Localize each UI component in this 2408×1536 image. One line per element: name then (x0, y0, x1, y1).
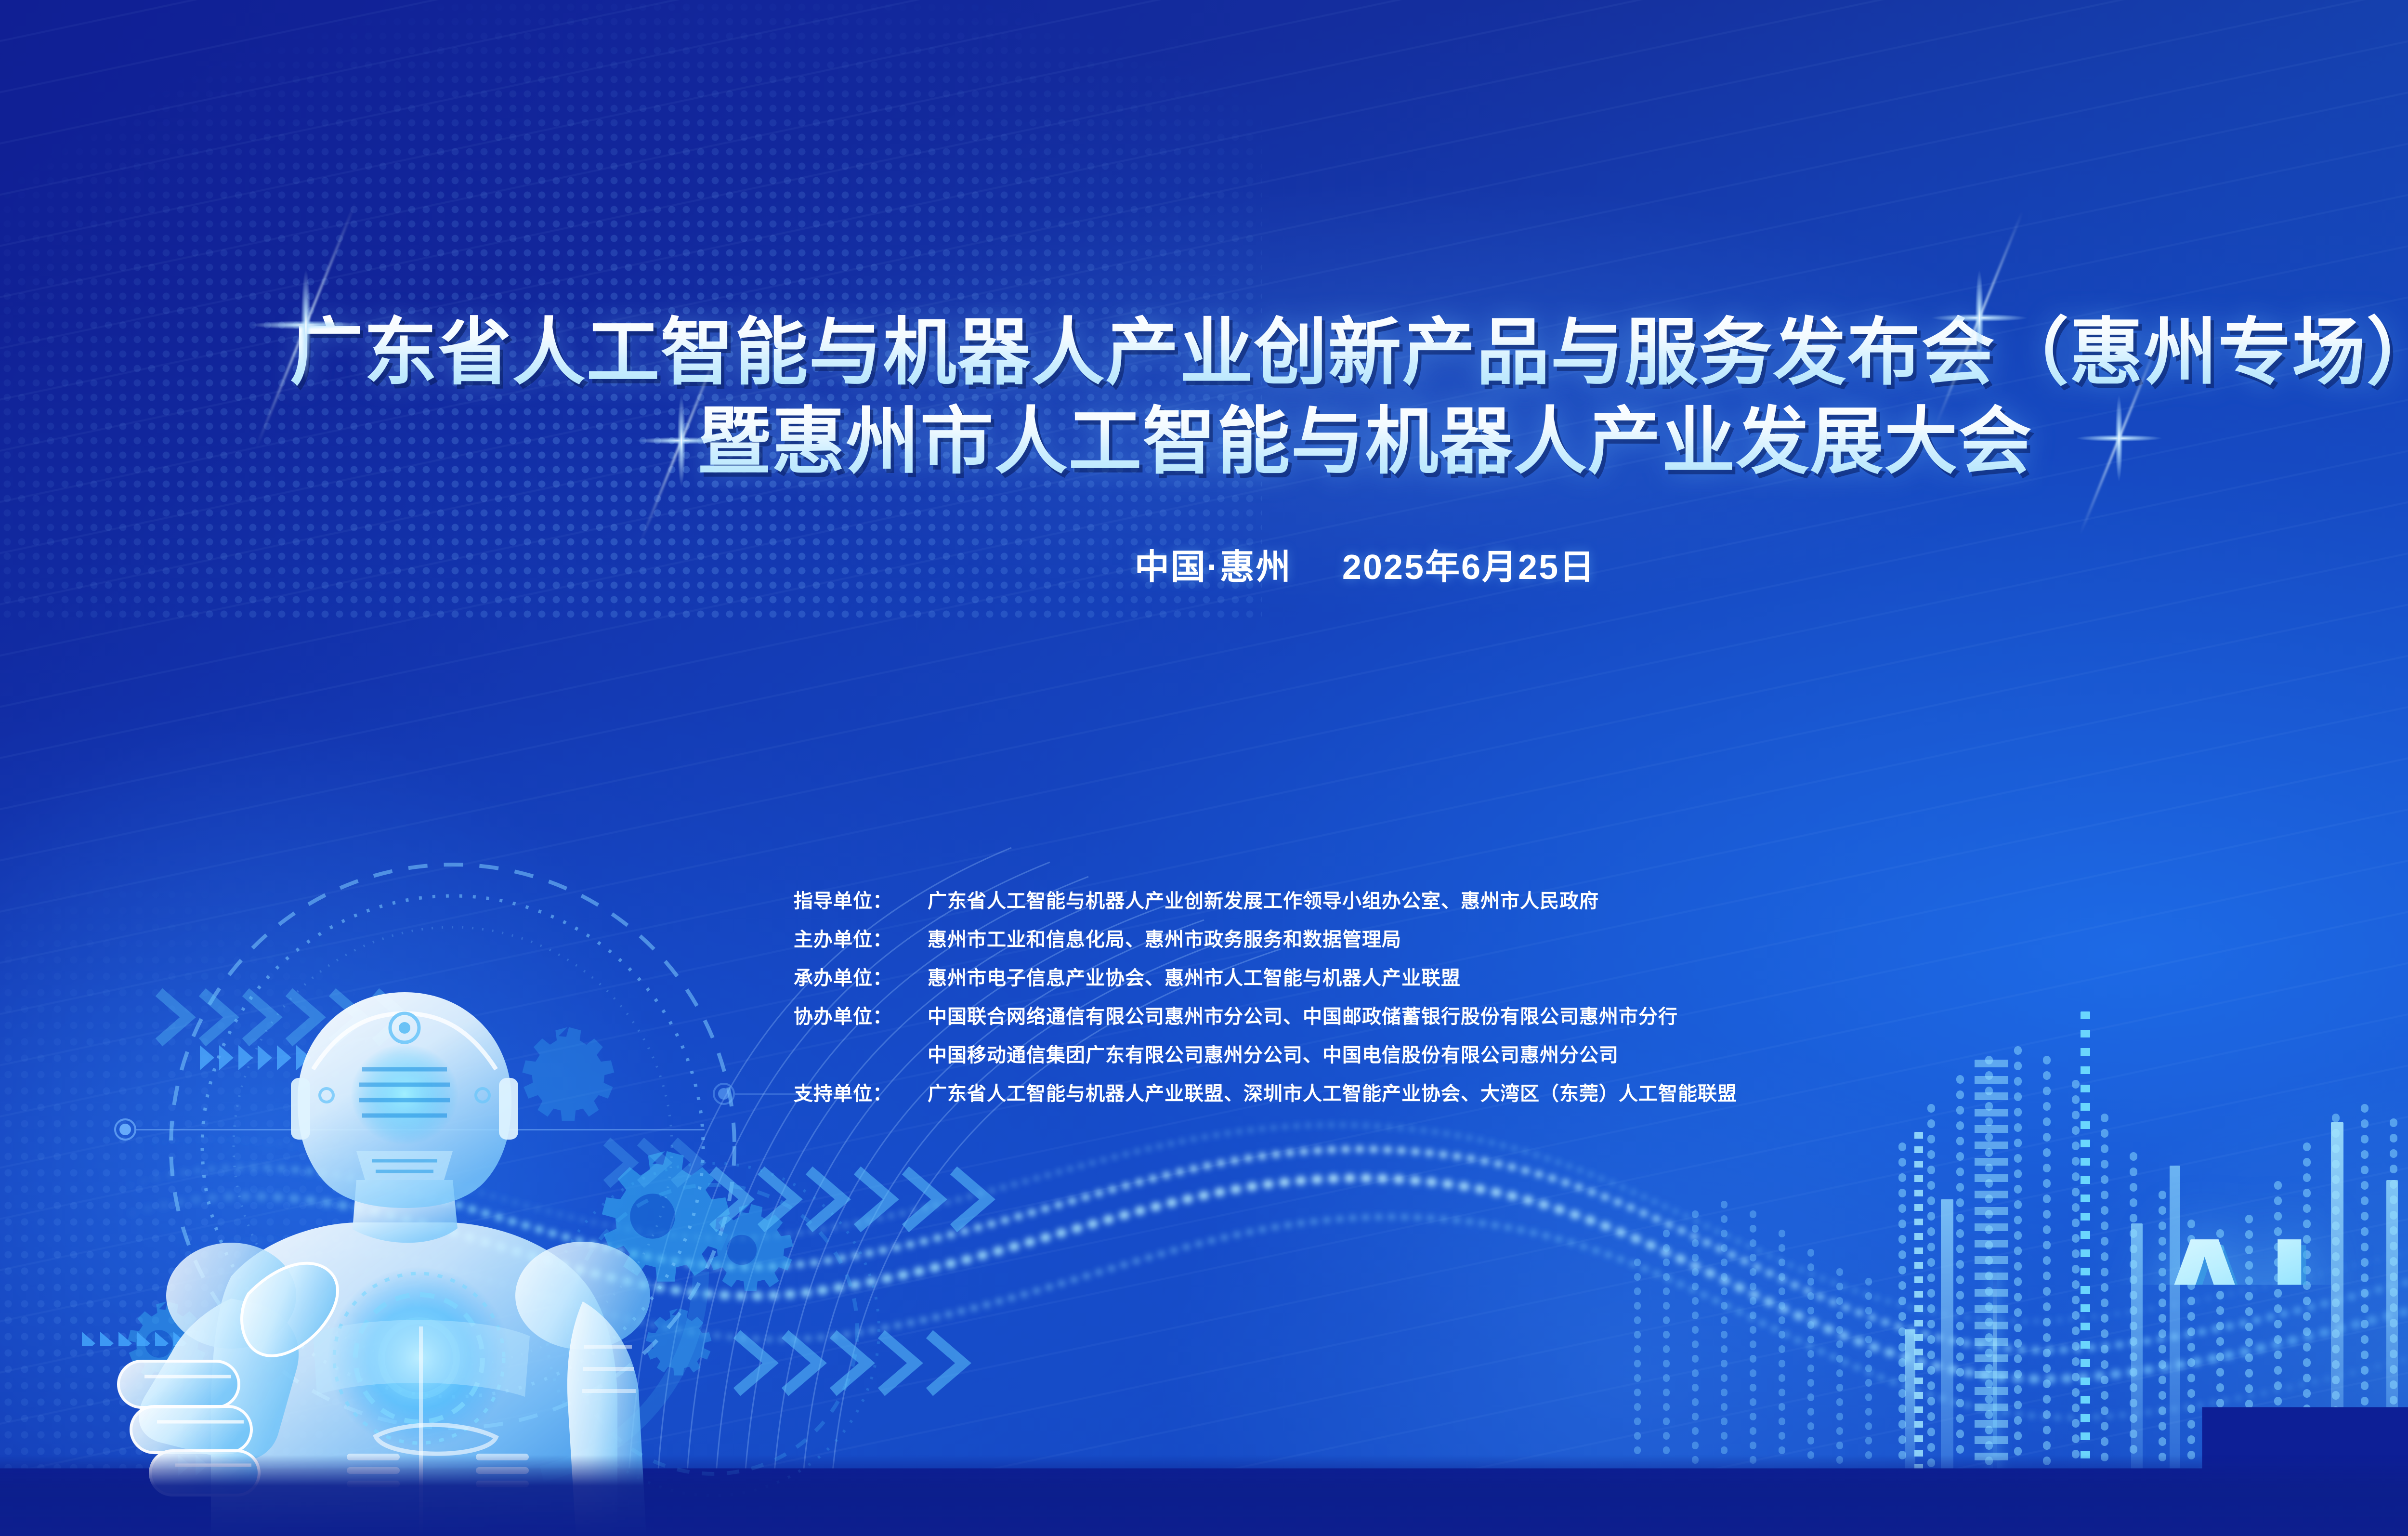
equalizer-bar-solid (1905, 1329, 1915, 1474)
poster-canvas: 广东省人工智能与机器人产业创新产品与服务发布会（惠州专场） 暨惠州市人工智能与机… (0, 0, 2408, 1536)
ai-logo: AI (2146, 1214, 2315, 1378)
equalizer-bar (1975, 1060, 2008, 1474)
humanoid-robot-illustration (87, 910, 679, 1536)
organizer-label: 主办单位： (794, 924, 928, 952)
subtitle-location: 中国·惠州 (1135, 548, 1292, 587)
vertical-glow-line (1993, 1272, 1997, 1474)
organizer-value: 广东省人工智能与机器人产业联盟、深圳市人工智能产业协会、大湾区（东莞）人工智能联… (928, 1078, 1737, 1106)
equalizer-bar-solid (1941, 1199, 1953, 1474)
organizer-value: 惠州市电子信息产业协会、惠州市人工智能与机器人产业联盟 (928, 962, 1461, 990)
organizer-row-continuation: 协办单位： 中国移动通信集团广东有限公司惠州分公司、中国电信股份有限公司惠州分公… (794, 1039, 2408, 1067)
organizer-row: 主办单位： 惠州市工业和信息化局、惠州市政务服务和数据管理局 (794, 924, 2408, 952)
organizer-row: 指导单位： 广东省人工智能与机器人产业创新发展工作领导小组办公室、惠州市人民政府 (794, 885, 2408, 913)
organizer-label: 协办单位： (794, 1001, 928, 1029)
title-block: 广东省人工智能与机器人产业创新产品与服务发布会（惠州专场） 暨惠州市人工智能与机… (0, 308, 2408, 487)
organizer-label: 指导单位： (794, 885, 928, 913)
organizer-value: 广东省人工智能与机器人产业创新发展工作领导小组办公室、惠州市人民政府 (928, 885, 1599, 913)
organizer-row: 支持单位： 广东省人工智能与机器人产业联盟、深圳市人工智能产业协会、大湾区（东莞… (794, 1078, 2408, 1106)
organizer-value: 中国移动通信集团广东有限公司惠州分公司、中国电信股份有限公司惠州分公司 (928, 1039, 1619, 1067)
equalizer-bar-solid (2131, 1223, 2143, 1474)
organizer-value: 惠州市工业和信息化局、惠州市政务服务和数据管理局 (928, 924, 1401, 952)
organizer-value: 中国联合网络通信有限公司惠州市分公司、中国邮政储蓄银行股份有限公司惠州市分行 (928, 1001, 1678, 1029)
node-ring-icon (713, 1083, 735, 1105)
title-line-1: 广东省人工智能与机器人产业创新产品与服务发布会（惠州专场） (0, 308, 2408, 397)
title-line-2: 暨惠州市人工智能与机器人产业发展大会 (0, 397, 2408, 486)
equalizer-bar-solid (2386, 1180, 2398, 1474)
equalizer-bar (1914, 1132, 1923, 1469)
equalizer-bar-solid (2331, 1122, 2343, 1474)
organizer-list: 指导单位： 广东省人工智能与机器人产业创新发展工作领导小组办公室、惠州市人民政府… (794, 885, 2408, 1116)
organizer-label: 承办单位： (794, 962, 928, 990)
subtitle-line: 中国·惠州 2025年6月25日 (0, 538, 2408, 589)
subtitle-date: 2025年6月25日 (1342, 548, 1596, 587)
bottom-gradient-band (0, 1455, 2408, 1536)
organizer-label: 支持单位： (794, 1078, 928, 1106)
organizer-row: 承办单位： 惠州市电子信息产业协会、惠州市人工智能与机器人产业联盟 (794, 962, 2408, 990)
organizer-row: 协办单位： 中国联合网络通信有限公司惠州市分公司、中国邮政储蓄银行股份有限公司惠… (794, 1001, 2408, 1029)
